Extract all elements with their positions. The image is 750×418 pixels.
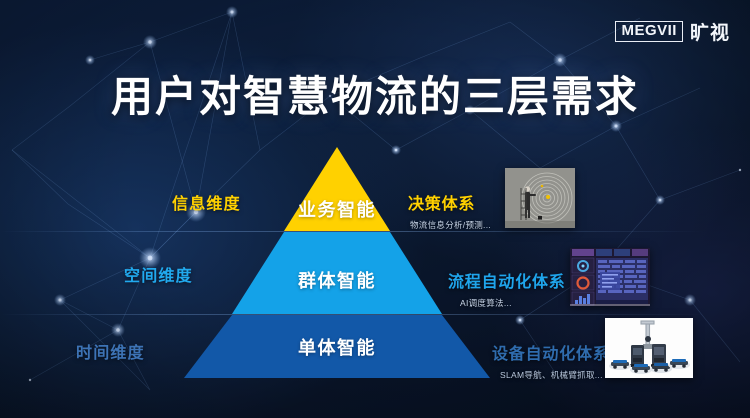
system-subtitle-decision: 物流信息分析/预测... [410, 219, 491, 231]
thumbnail-robots-photo [605, 318, 693, 378]
pyramid-label-swarm-intelligence: 群体智能 [277, 267, 397, 293]
system-title-decision: 决策体系 [408, 190, 491, 214]
system-subtitle-process-automation: AI调度算法... [460, 297, 566, 309]
system-title-process-automation: 流程自动化体系 [448, 268, 566, 292]
system-block-device-automation: 设备自动化体系 SLAM导航、机械臂抓取... [492, 340, 610, 381]
system-block-decision: 决策体系 物流信息分析/预测... [408, 190, 491, 231]
dimension-label-space: 空间维度 [124, 262, 193, 286]
system-subtitle-device-automation: SLAM导航、机械臂抓取... [500, 369, 610, 381]
slide-canvas: MEGVII 旷视 用户对智慧物流的三层需求 业务智能 群体智能 单体智能 信息… [0, 0, 750, 418]
slide-title: 用户对智慧物流的三层需求 [0, 63, 750, 124]
pyramid-label-individual-intelligence: 单体智能 [277, 334, 397, 360]
logo-chinese-name: 旷视 [690, 18, 730, 45]
system-title-device-automation: 设备自动化体系 [492, 340, 610, 364]
logo-wordmark: MEGVII [615, 21, 683, 42]
thumbnail-decision-photo [505, 168, 575, 228]
pyramid-label-business-intelligence: 业务智能 [277, 196, 397, 222]
dimension-label-information: 信息维度 [172, 190, 241, 214]
thumbnail-dashboard-screenshot [570, 248, 650, 306]
megvii-logo: MEGVII 旷视 [615, 18, 730, 45]
system-block-process-automation: 流程自动化体系 AI调度算法... [448, 268, 566, 309]
dimension-label-time: 时间维度 [76, 339, 145, 363]
